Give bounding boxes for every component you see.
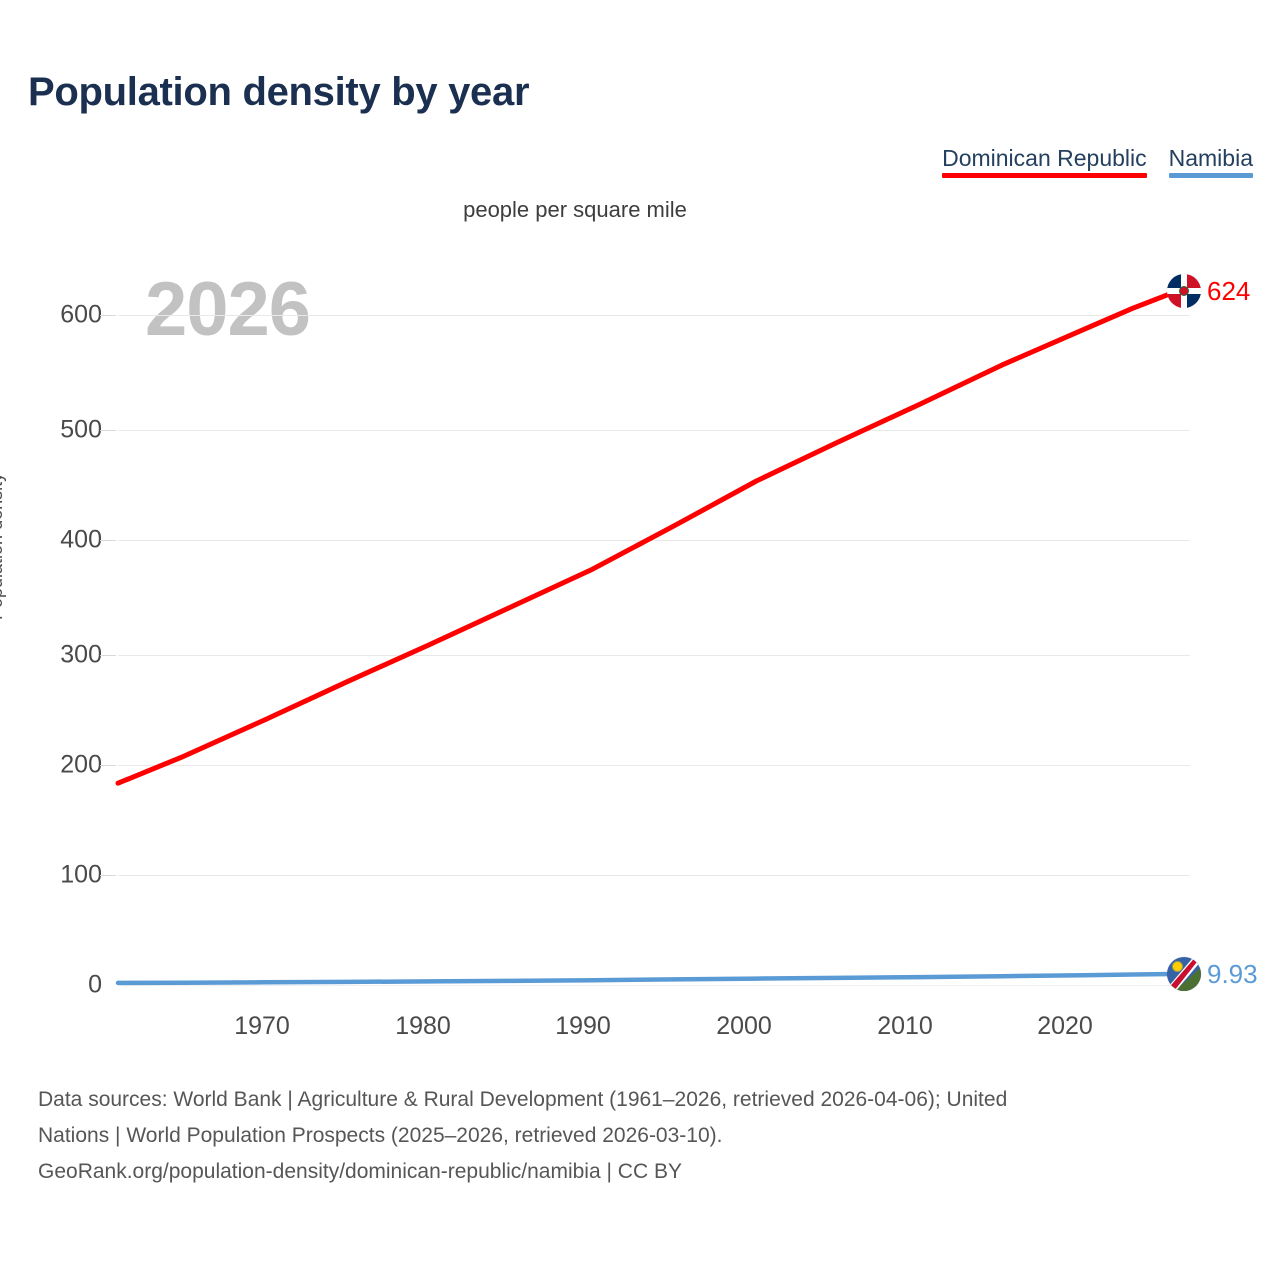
x-tick-2000: 2000 xyxy=(716,1012,772,1041)
x-tick-2020: 2020 xyxy=(1037,1012,1093,1041)
legend-item-dominican-republic[interactable]: Dominican Republic xyxy=(942,146,1147,178)
y-tick-dash-400 xyxy=(100,540,116,541)
gridline-500 xyxy=(118,430,1190,431)
gridline-100 xyxy=(118,875,1190,876)
x-tick-1980: 1980 xyxy=(395,1012,451,1041)
footer-line-3: GeoRank.org/population-density/dominican… xyxy=(38,1154,1253,1190)
plot-area xyxy=(118,240,1190,1000)
legend-rule-namibia xyxy=(1169,173,1253,178)
y-tick-dash-500 xyxy=(100,430,116,431)
y-tick-300: 300 xyxy=(12,641,102,670)
y-tick-dash-200 xyxy=(100,765,116,766)
y-tick-200: 200 xyxy=(12,751,102,780)
chart-subtitle: people per square mile xyxy=(0,197,1280,223)
legend-label-dominican-republic: Dominican Republic xyxy=(942,146,1147,173)
endpoint-dominican-republic: 624 xyxy=(1167,274,1250,308)
endpoint-namibia: 9.93 xyxy=(1167,957,1258,991)
chart-page: Population density by year Dominican Rep… xyxy=(0,0,1280,1280)
namibia-flag-icon xyxy=(1167,957,1201,991)
footer-line-1: Data sources: World Bank | Agriculture &… xyxy=(38,1082,1253,1118)
x-tick-2010: 2010 xyxy=(877,1012,933,1041)
y-tick-dash-600 xyxy=(100,315,116,316)
x-tick-1970: 1970 xyxy=(234,1012,290,1041)
gridline-200 xyxy=(118,765,1190,766)
y-tick-500: 500 xyxy=(12,416,102,445)
y-tick-400: 400 xyxy=(12,526,102,555)
page-title: Population density by year xyxy=(28,70,529,115)
dominican-republic-flag-icon xyxy=(1167,274,1201,308)
gridline-600 xyxy=(118,315,1190,316)
y-tick-dash-100 xyxy=(100,875,116,876)
footer-line-2: Nations | World Population Prospects (20… xyxy=(38,1118,1253,1154)
y-axis-title: Population density xyxy=(0,473,7,620)
y-tick-dash-300 xyxy=(100,655,116,656)
y-tick-100: 100 xyxy=(12,861,102,890)
legend-rule-dominican-republic xyxy=(942,173,1147,178)
chart-legend: Dominican Republic Namibia xyxy=(942,146,1253,178)
gridline-0 xyxy=(118,985,1190,986)
y-tick-600: 600 xyxy=(12,301,102,330)
x-tick-1990: 1990 xyxy=(555,1012,611,1041)
footer-sources: Data sources: World Bank | Agriculture &… xyxy=(38,1082,1253,1190)
gridline-400 xyxy=(118,540,1190,541)
endpoint-value-dominican-republic: 624 xyxy=(1207,276,1250,307)
legend-label-namibia: Namibia xyxy=(1169,146,1253,173)
y-tick-0: 0 xyxy=(12,971,102,1000)
endpoint-value-namibia: 9.93 xyxy=(1207,959,1258,990)
gridline-300 xyxy=(118,655,1190,656)
legend-item-namibia[interactable]: Namibia xyxy=(1169,146,1253,178)
